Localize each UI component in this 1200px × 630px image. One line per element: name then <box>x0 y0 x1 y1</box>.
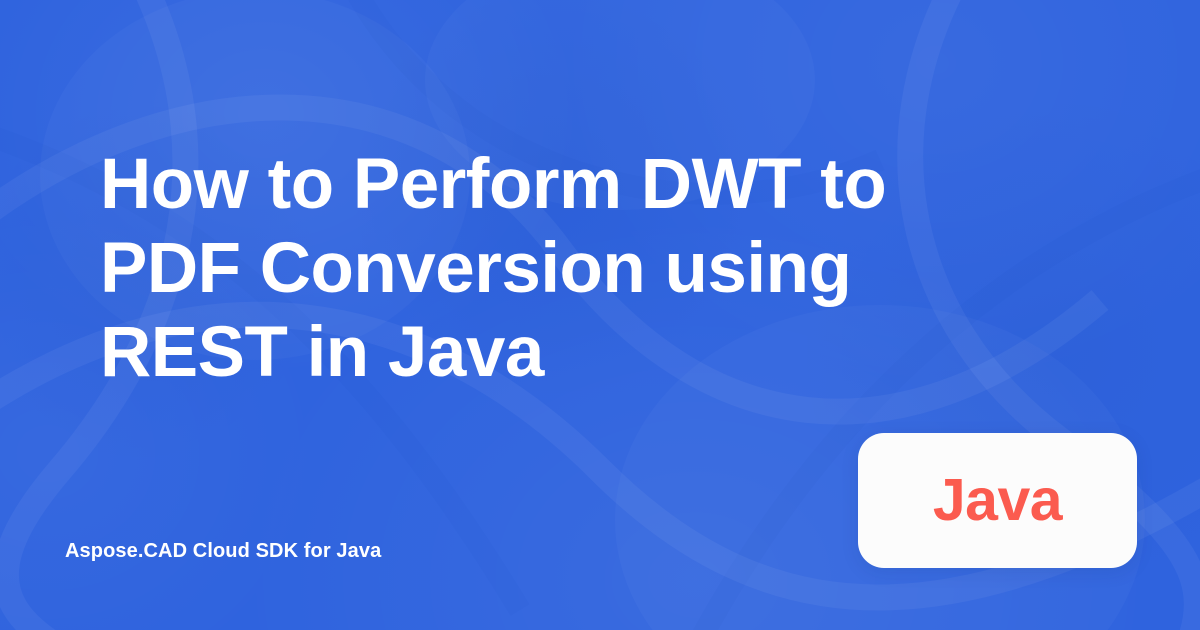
social-share-banner: How to Perform DWT to PDF Conversion usi… <box>0 0 1200 630</box>
banner-title: How to Perform DWT to PDF Conversion usi… <box>100 143 1100 395</box>
product-label: Aspose.CAD Cloud SDK for Java <box>65 537 381 565</box>
language-badge-card: Java <box>858 433 1137 568</box>
language-badge-label: Java <box>933 471 1062 530</box>
